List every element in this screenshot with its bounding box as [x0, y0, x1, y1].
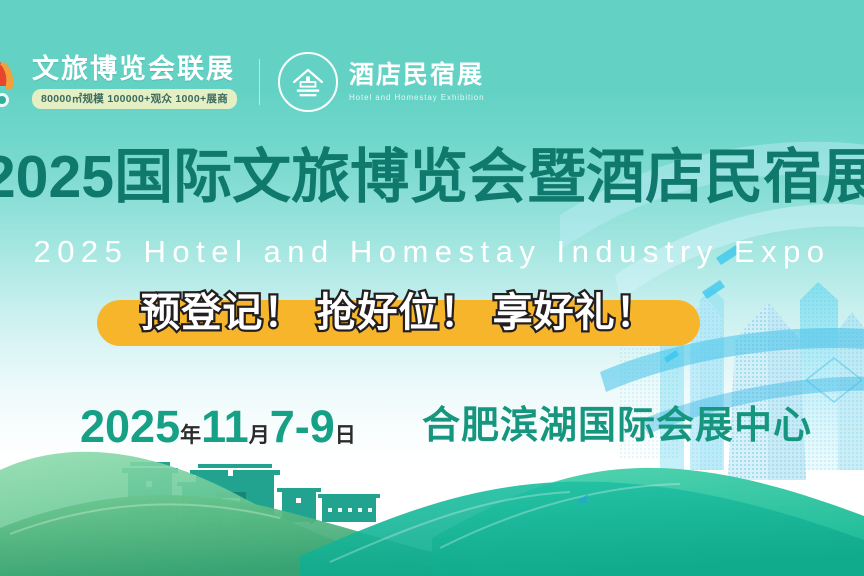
date-year: 2025 [80, 401, 180, 452]
date-days: 7-9 [270, 401, 335, 452]
page-title: 2025国际文旅博览会暨酒店民宿展 [0, 148, 864, 207]
date-day-unit: 日 [335, 424, 356, 447]
hill-right-front [300, 482, 864, 576]
event-venue: 合肥滨湖国际会展中心 [422, 407, 812, 445]
event-date: 2025年11月7-9日 [80, 404, 356, 449]
hotel-text-block: 酒店民宿展 Hotel and Homestay Exhibition [349, 62, 485, 102]
date-month: 11 [201, 401, 249, 452]
page-subtitle: 2025 Hotel and Homestay Industry Expo [33, 236, 830, 267]
date-year-unit: 年 [180, 424, 201, 447]
vertical-divider [259, 59, 260, 105]
hill-back-left [0, 452, 432, 576]
huizhou-architecture-silhouette-icon [120, 462, 380, 532]
brand-name: 文旅博览会联展 [32, 55, 237, 83]
brand-text-block: 文旅博览会联展 80000㎡规模 100000+观众 1000+展商 [32, 55, 237, 108]
hotel-exhibition-name: 酒店民宿展 [349, 62, 485, 90]
hill-front-left [0, 495, 470, 576]
header-logo-row: 文旅博览会联展 80000㎡规模 100000+观众 1000+展商 酒店民宿展… [0, 46, 485, 118]
hotel-exhibition-name-en: Hotel and Homestay Exhibition [349, 93, 485, 102]
event-poster: 文旅博览会联展 80000㎡规模 100000+观众 1000+展商 酒店民宿展… [0, 0, 864, 576]
slogan-text: 预登记！ 抢好位！ 享好礼！ [97, 283, 700, 343]
colorful-ribbon-logo-icon [0, 52, 26, 112]
brand-stats-badge: 80000㎡规模 100000+观众 1000+展商 [32, 89, 237, 109]
house-circle-logo-icon [278, 52, 338, 112]
hill-right-teal [432, 468, 864, 576]
date-month-unit: 月 [249, 424, 270, 447]
slogan-banner: 预登记！ 抢好位！ 享好礼！ [97, 300, 700, 346]
